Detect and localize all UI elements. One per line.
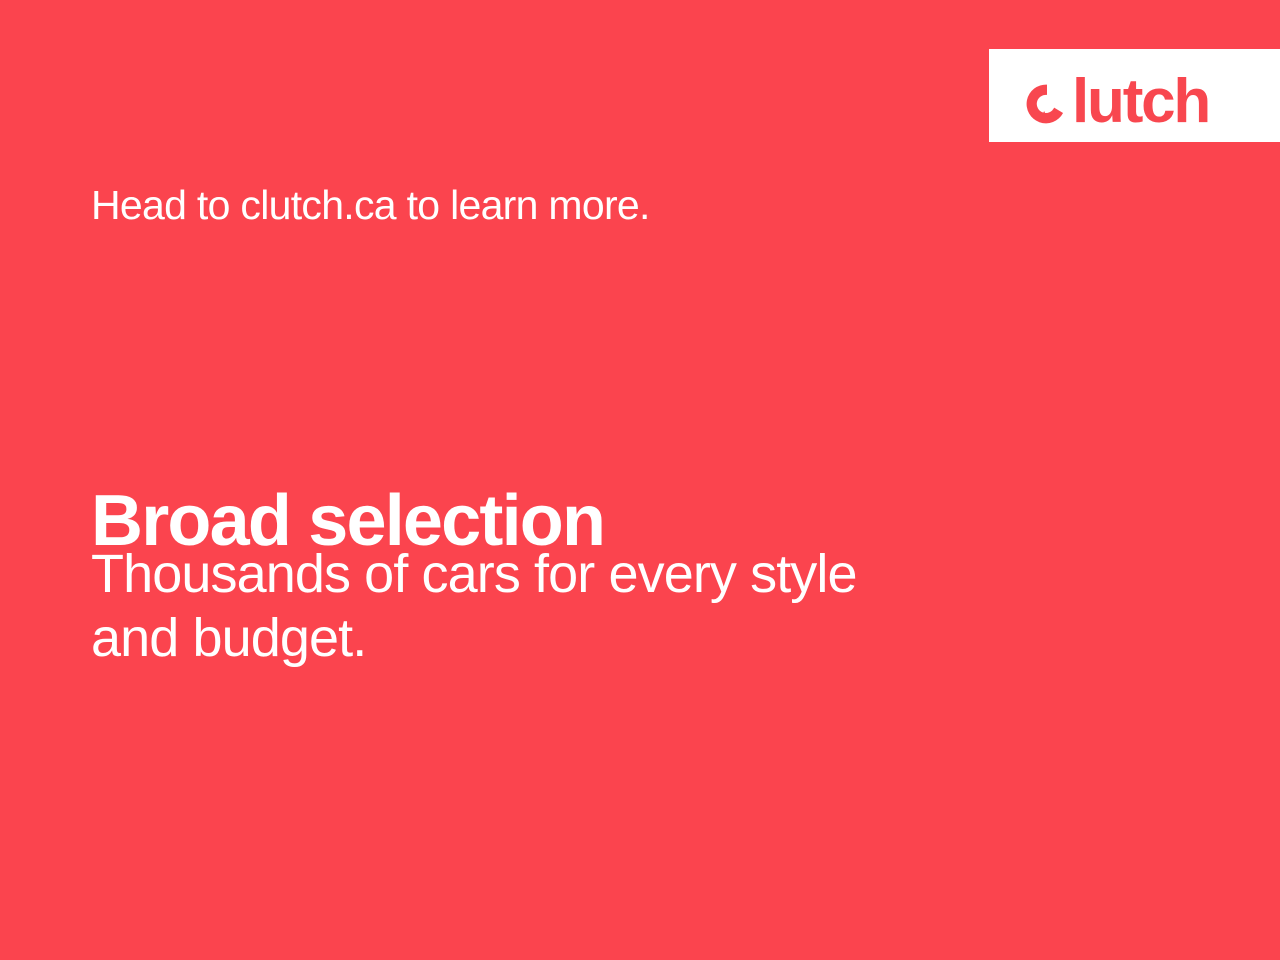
clutch-logo-lockup[interactable]: lutch <box>1025 67 1209 125</box>
brand-logo-plate[interactable]: lutch <box>989 49 1280 142</box>
tagline-text: Head to clutch.ca to learn more. <box>91 182 650 229</box>
subtitle-block: Thousands of cars for every style and bu… <box>91 543 857 670</box>
subtitle-line-1: Thousands of cars for every style <box>91 543 857 607</box>
clutch-c-mark-icon <box>1025 82 1069 126</box>
slide-canvas: lutch Head to clutch.ca to learn more. B… <box>0 0 1280 960</box>
clutch-wordmark: lutch <box>1072 78 1209 126</box>
subtitle-line-2: and budget. <box>91 607 857 671</box>
